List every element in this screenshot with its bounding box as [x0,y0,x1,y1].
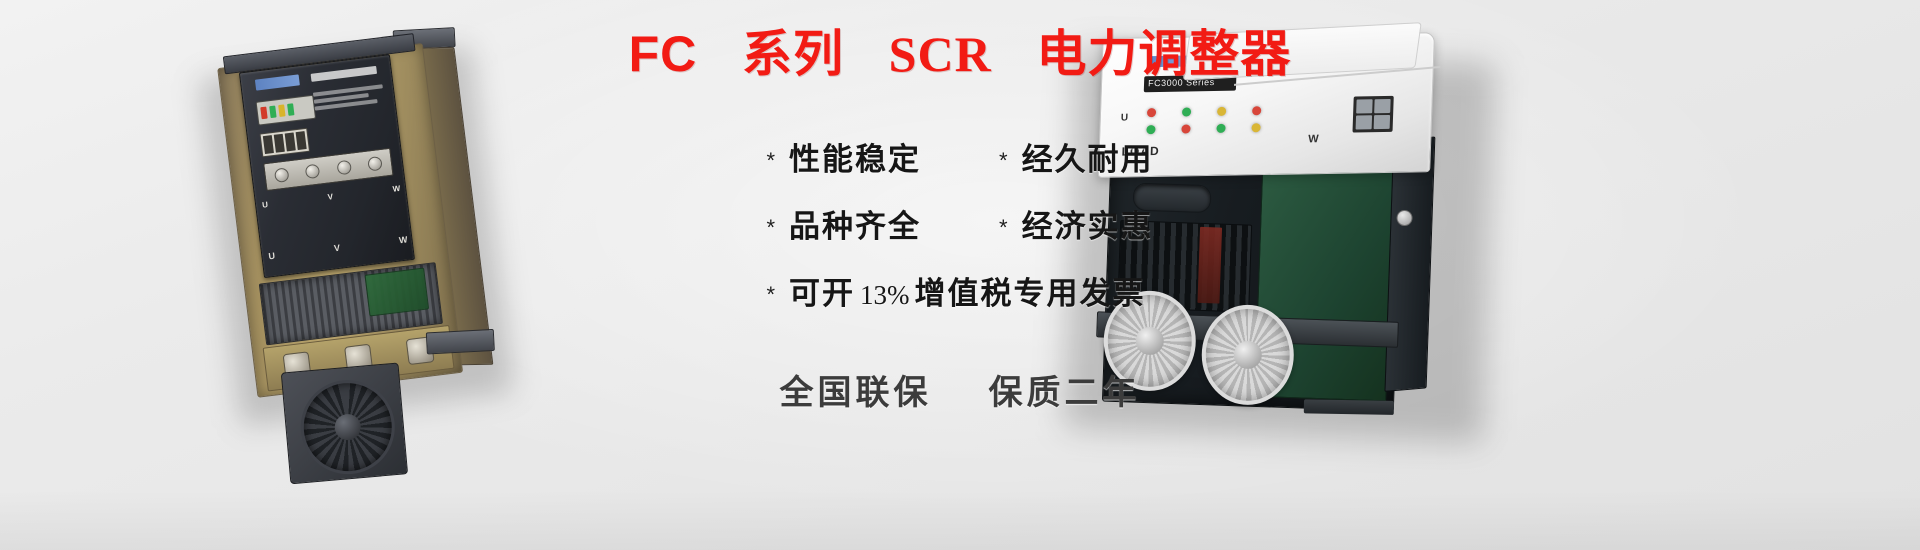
terminal-screw-icon [274,167,290,183]
product-right-side-edge [1384,136,1435,392]
product-right-foot [1304,399,1394,415]
model-label-strip [311,66,377,82]
bullet-star-icon: * [766,148,775,174]
title-part-scr: SCR [889,26,992,82]
fan-hub-icon [1234,341,1262,369]
keypad-icon [1352,96,1393,133]
bullet-star-icon: * [766,282,775,308]
indicator-lamp-icon [1147,108,1156,117]
indicator-lamp-icon [1181,124,1190,133]
product-left-faceplate: UVW UVW [239,54,415,278]
feature-stable-performance: 性能稳定 [789,134,999,179]
product-image-right: SCR FC3000 Series U W LOAD [1053,18,1527,444]
carry-handle-icon [1133,183,1212,214]
cooling-fan-icon [1104,291,1196,391]
terminal-screw-icon [305,164,321,180]
status-led-cluster [256,95,316,126]
promo-banner: UVW UVW [0,0,1920,550]
indicator-lamp-icon [1216,124,1225,133]
phase-label-u: U [1121,113,1129,124]
indicator-lamp-icon [1252,106,1261,115]
cooling-fan-icon [297,376,399,478]
bullet-star-icon: * [999,148,1008,174]
fan-hub-icon [334,413,362,441]
cooling-fan-icon [1202,305,1294,405]
floor-shadow [0,490,1920,550]
indicator-lamp-icon [1146,125,1155,134]
led-green-2-icon [287,103,294,116]
mounting-bracket-bottom-icon [426,329,495,355]
led-green-icon [269,105,276,118]
invoice-prefix: 可开 [789,268,855,313]
terminal-screw-icon [367,156,383,172]
bullet-star-icon: * [999,215,1008,241]
feature-full-range: 品种齐全 [789,201,999,246]
dip-switch-block [259,128,310,158]
led-red-icon [260,107,267,120]
tagline-nationwide-service: 全国联保 [780,374,932,412]
indicator-lamp-grid [1146,105,1358,151]
indicator-lamp-icon [1251,123,1260,132]
indicator-lamp-icon [1182,107,1191,116]
invoice-tax-rate: 13% [855,280,915,311]
indicator-lamp-icon [1217,107,1226,116]
faceplate-print-lines [313,84,386,118]
title-part-series: 系列 [742,26,844,82]
title-part-fc: FC [629,26,698,82]
terminal-screw-icon [336,160,352,176]
bullet-star-icon: * [766,215,775,241]
product-image-left: UVW UVW [204,27,516,417]
cooling-fan-housing [281,362,408,484]
fan-hub-icon [1136,327,1164,355]
pcb-green-board [364,268,429,317]
cooling-fan-pair [1104,291,1294,411]
terminal-letters-row-2: UVW [268,232,409,263]
brand-logo-icon [255,74,300,90]
led-yellow-icon [278,104,285,117]
